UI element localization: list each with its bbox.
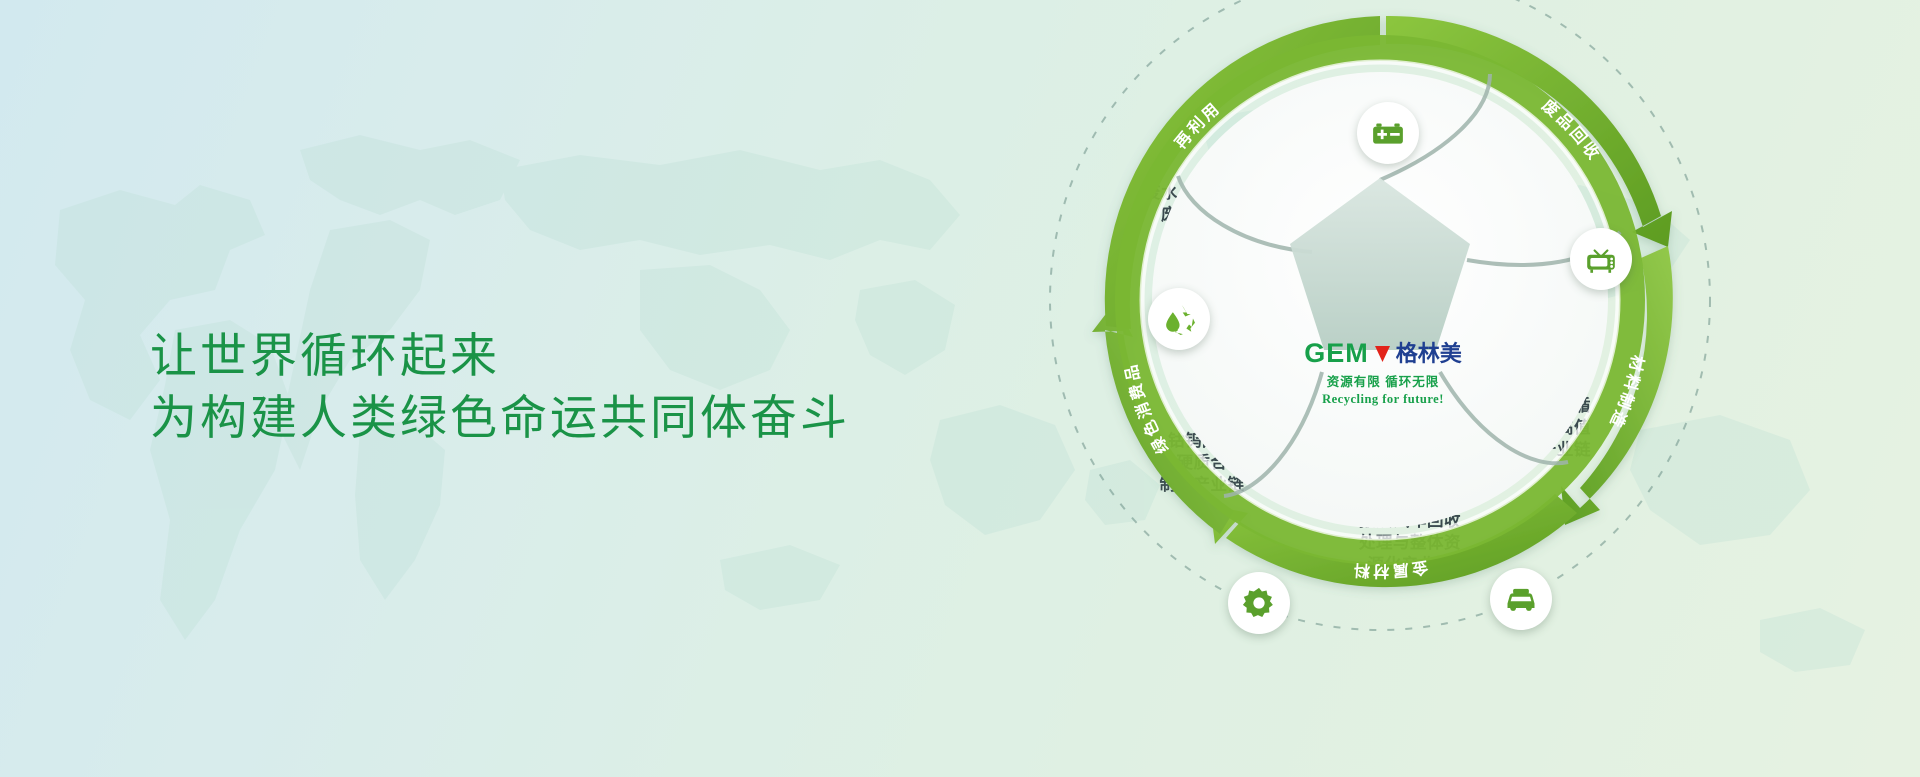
icon-bubble-recycle-drop[interactable] bbox=[1148, 288, 1210, 350]
headline-block: 让世界循环起来 为构建人类绿色命运共同体奋斗 bbox=[150, 325, 850, 449]
battery-icon bbox=[1371, 116, 1405, 150]
icon-bubble-car[interactable] bbox=[1490, 568, 1552, 630]
logo-gem-wordmark: GEM bbox=[1304, 340, 1369, 367]
car-icon bbox=[1503, 581, 1539, 617]
recycle-drop-icon bbox=[1160, 300, 1198, 338]
logo-slogan-cn: 资源有限 循环无限 bbox=[1288, 371, 1478, 390]
gear-icon bbox=[1241, 585, 1277, 621]
headline-line-2: 为构建人类绿色命运共同体奋斗 bbox=[150, 387, 850, 449]
icon-bubble-gear[interactable] bbox=[1228, 572, 1290, 634]
logo-slogan-en: Recycling for future! bbox=[1288, 392, 1478, 407]
headline-line-1: 让世界循环起来 bbox=[150, 325, 850, 387]
logo-brand-cn: 格林美 bbox=[1396, 343, 1462, 365]
icon-bubble-television[interactable] bbox=[1570, 228, 1632, 290]
television-icon bbox=[1584, 242, 1618, 276]
icon-bubble-battery[interactable] bbox=[1357, 102, 1419, 164]
logo-triangle-icon bbox=[1375, 344, 1390, 364]
gem-logo: GEM 格林美 资源有限 循环无限 Recycling for future! bbox=[1288, 340, 1478, 407]
